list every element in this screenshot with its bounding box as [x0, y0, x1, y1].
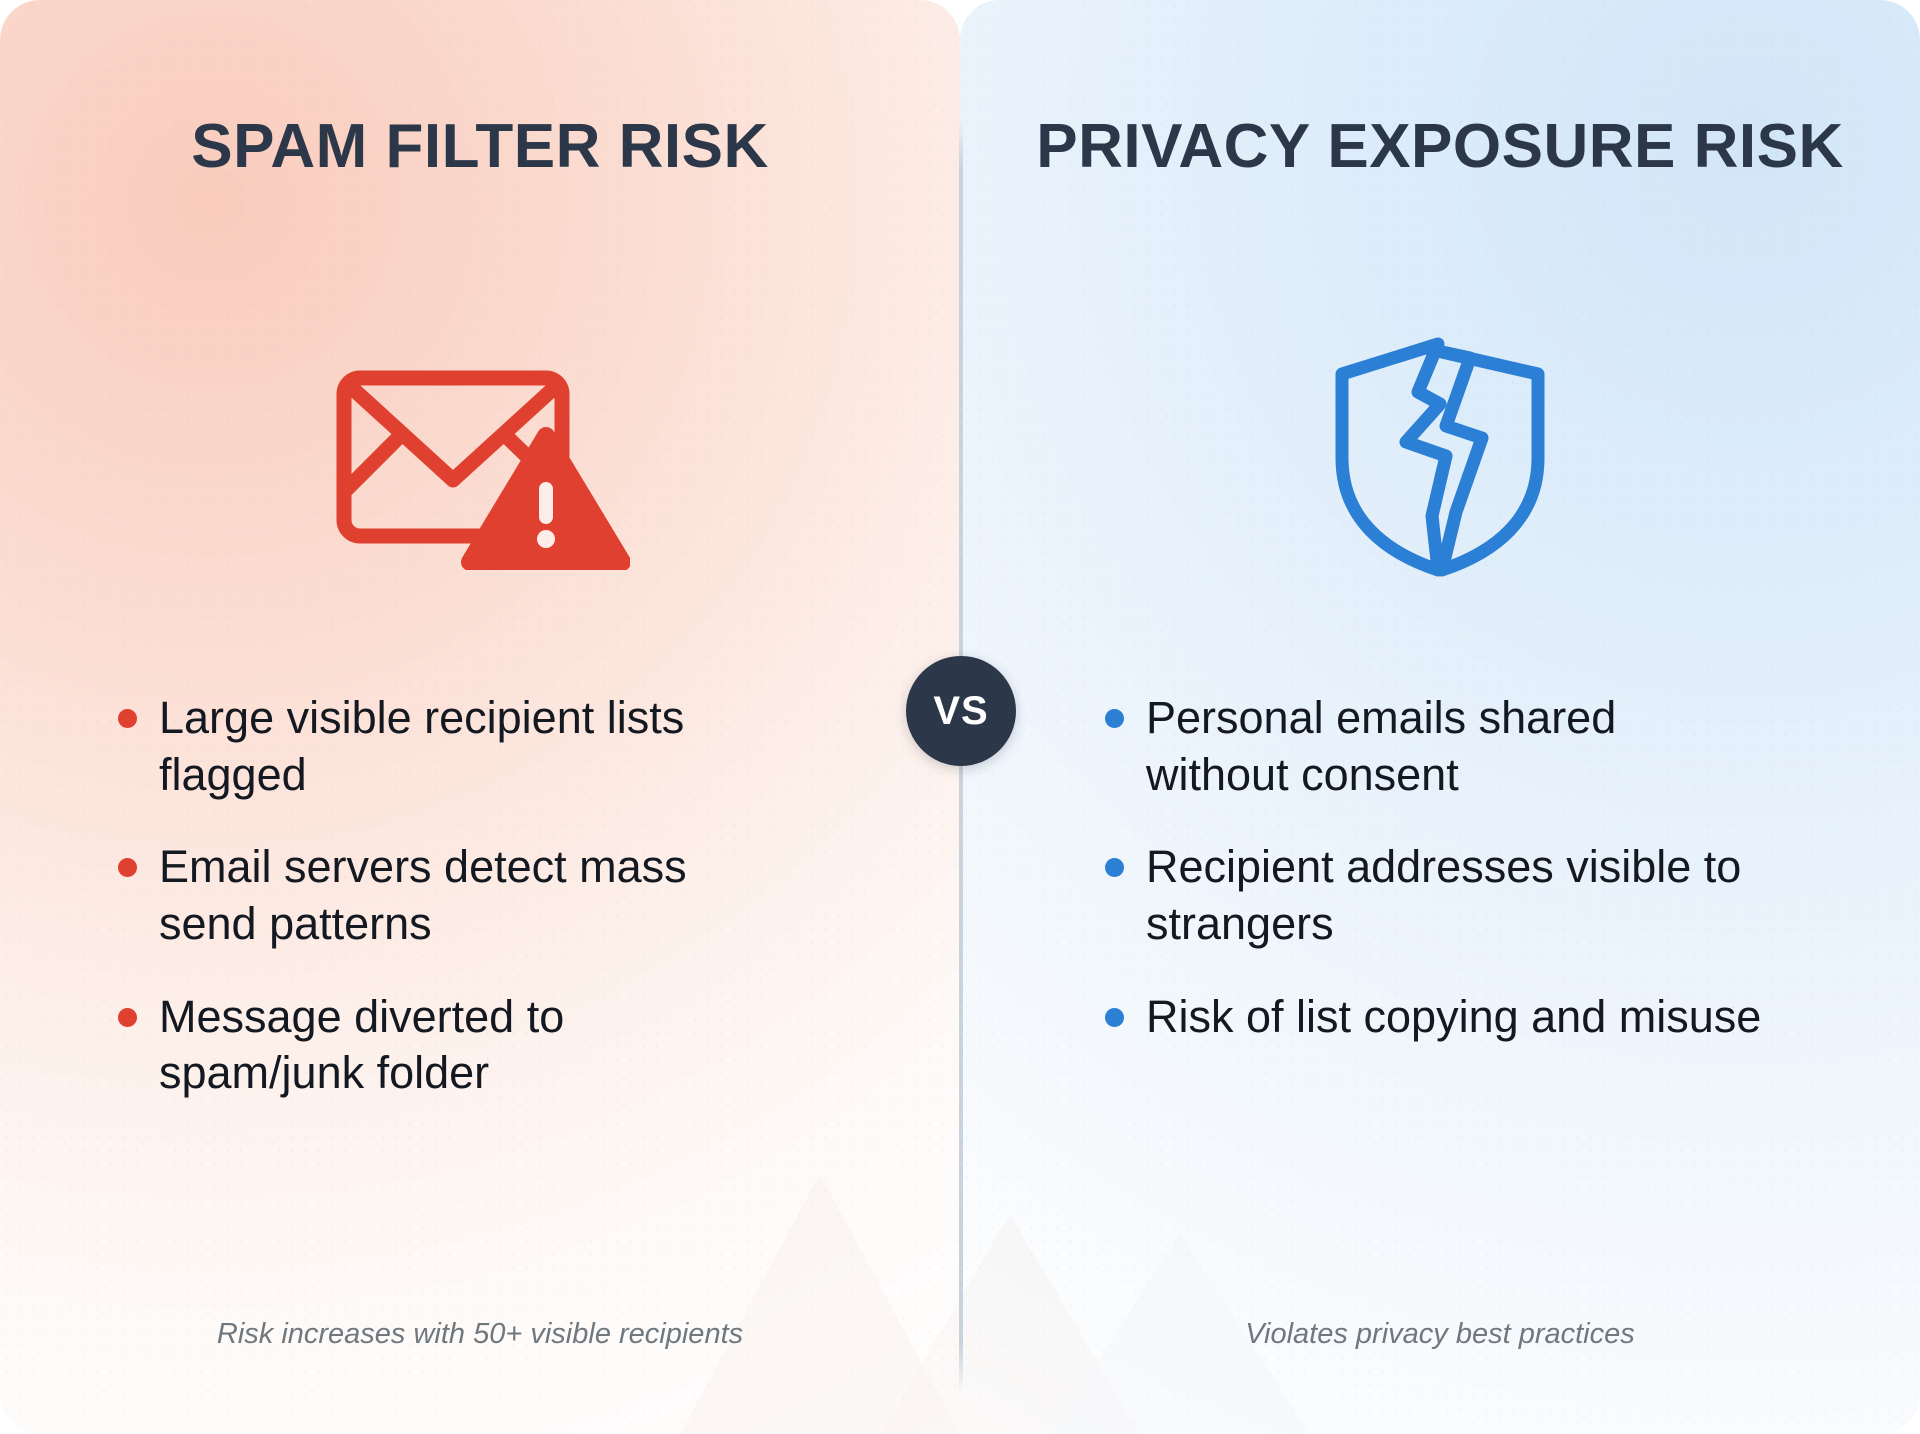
left-footnote: Risk increases with 50+ visible recipien…: [0, 1318, 960, 1351]
right-footnote: Violates privacy best practices: [960, 1318, 1920, 1351]
bullet-text: Recipient addresses visible to strangers: [1146, 839, 1765, 952]
right-bullet-list: Personal emails shared without consent R…: [1105, 690, 1765, 1081]
bullet-dot-icon: [118, 709, 137, 728]
bullet-dot-icon: [1105, 709, 1124, 728]
left-bullet-list: Large visible recipient lists flagged Em…: [118, 690, 778, 1138]
list-item: Email servers detect mass send patterns: [118, 839, 778, 952]
list-item: Large visible recipient lists flagged: [118, 690, 778, 803]
right-column-title: PRIVACY EXPOSURE RISK: [960, 112, 1920, 183]
list-item: Recipient addresses visible to strangers: [1105, 839, 1765, 952]
right-icon-wrapper: [960, 330, 1920, 580]
list-item: Risk of list copying and misuse: [1105, 989, 1765, 1046]
bullet-dot-icon: [1105, 1008, 1124, 1027]
vs-badge: VS: [906, 656, 1016, 766]
bullet-dot-icon: [118, 858, 137, 877]
broken-shield-icon: [1320, 330, 1560, 580]
bullet-dot-icon: [118, 1008, 137, 1027]
bullet-text: Message diverted to spam/junk folder: [159, 989, 778, 1102]
bullet-text: Personal emails shared without consent: [1146, 690, 1765, 803]
bullet-text: Risk of list copying and misuse: [1146, 989, 1761, 1046]
vs-badge-label: VS: [933, 689, 988, 734]
bullet-text: Large visible recipient lists flagged: [159, 690, 778, 803]
right-column: PRIVACY EXPOSURE RISK Personal emails sh…: [960, 0, 1920, 1434]
left-column-title: SPAM FILTER RISK: [0, 112, 960, 183]
left-column: SPAM FILTER RISK: [0, 0, 960, 1434]
list-item: Message diverted to spam/junk folder: [118, 989, 778, 1102]
envelope-warning-icon: [330, 340, 630, 570]
bullet-text: Email servers detect mass send patterns: [159, 839, 778, 952]
comparison-infographic: VS SPAM FILTER RISK: [0, 0, 1920, 1434]
list-item: Personal emails shared without consent: [1105, 690, 1765, 803]
bullet-dot-icon: [1105, 858, 1124, 877]
left-icon-wrapper: [0, 330, 960, 580]
